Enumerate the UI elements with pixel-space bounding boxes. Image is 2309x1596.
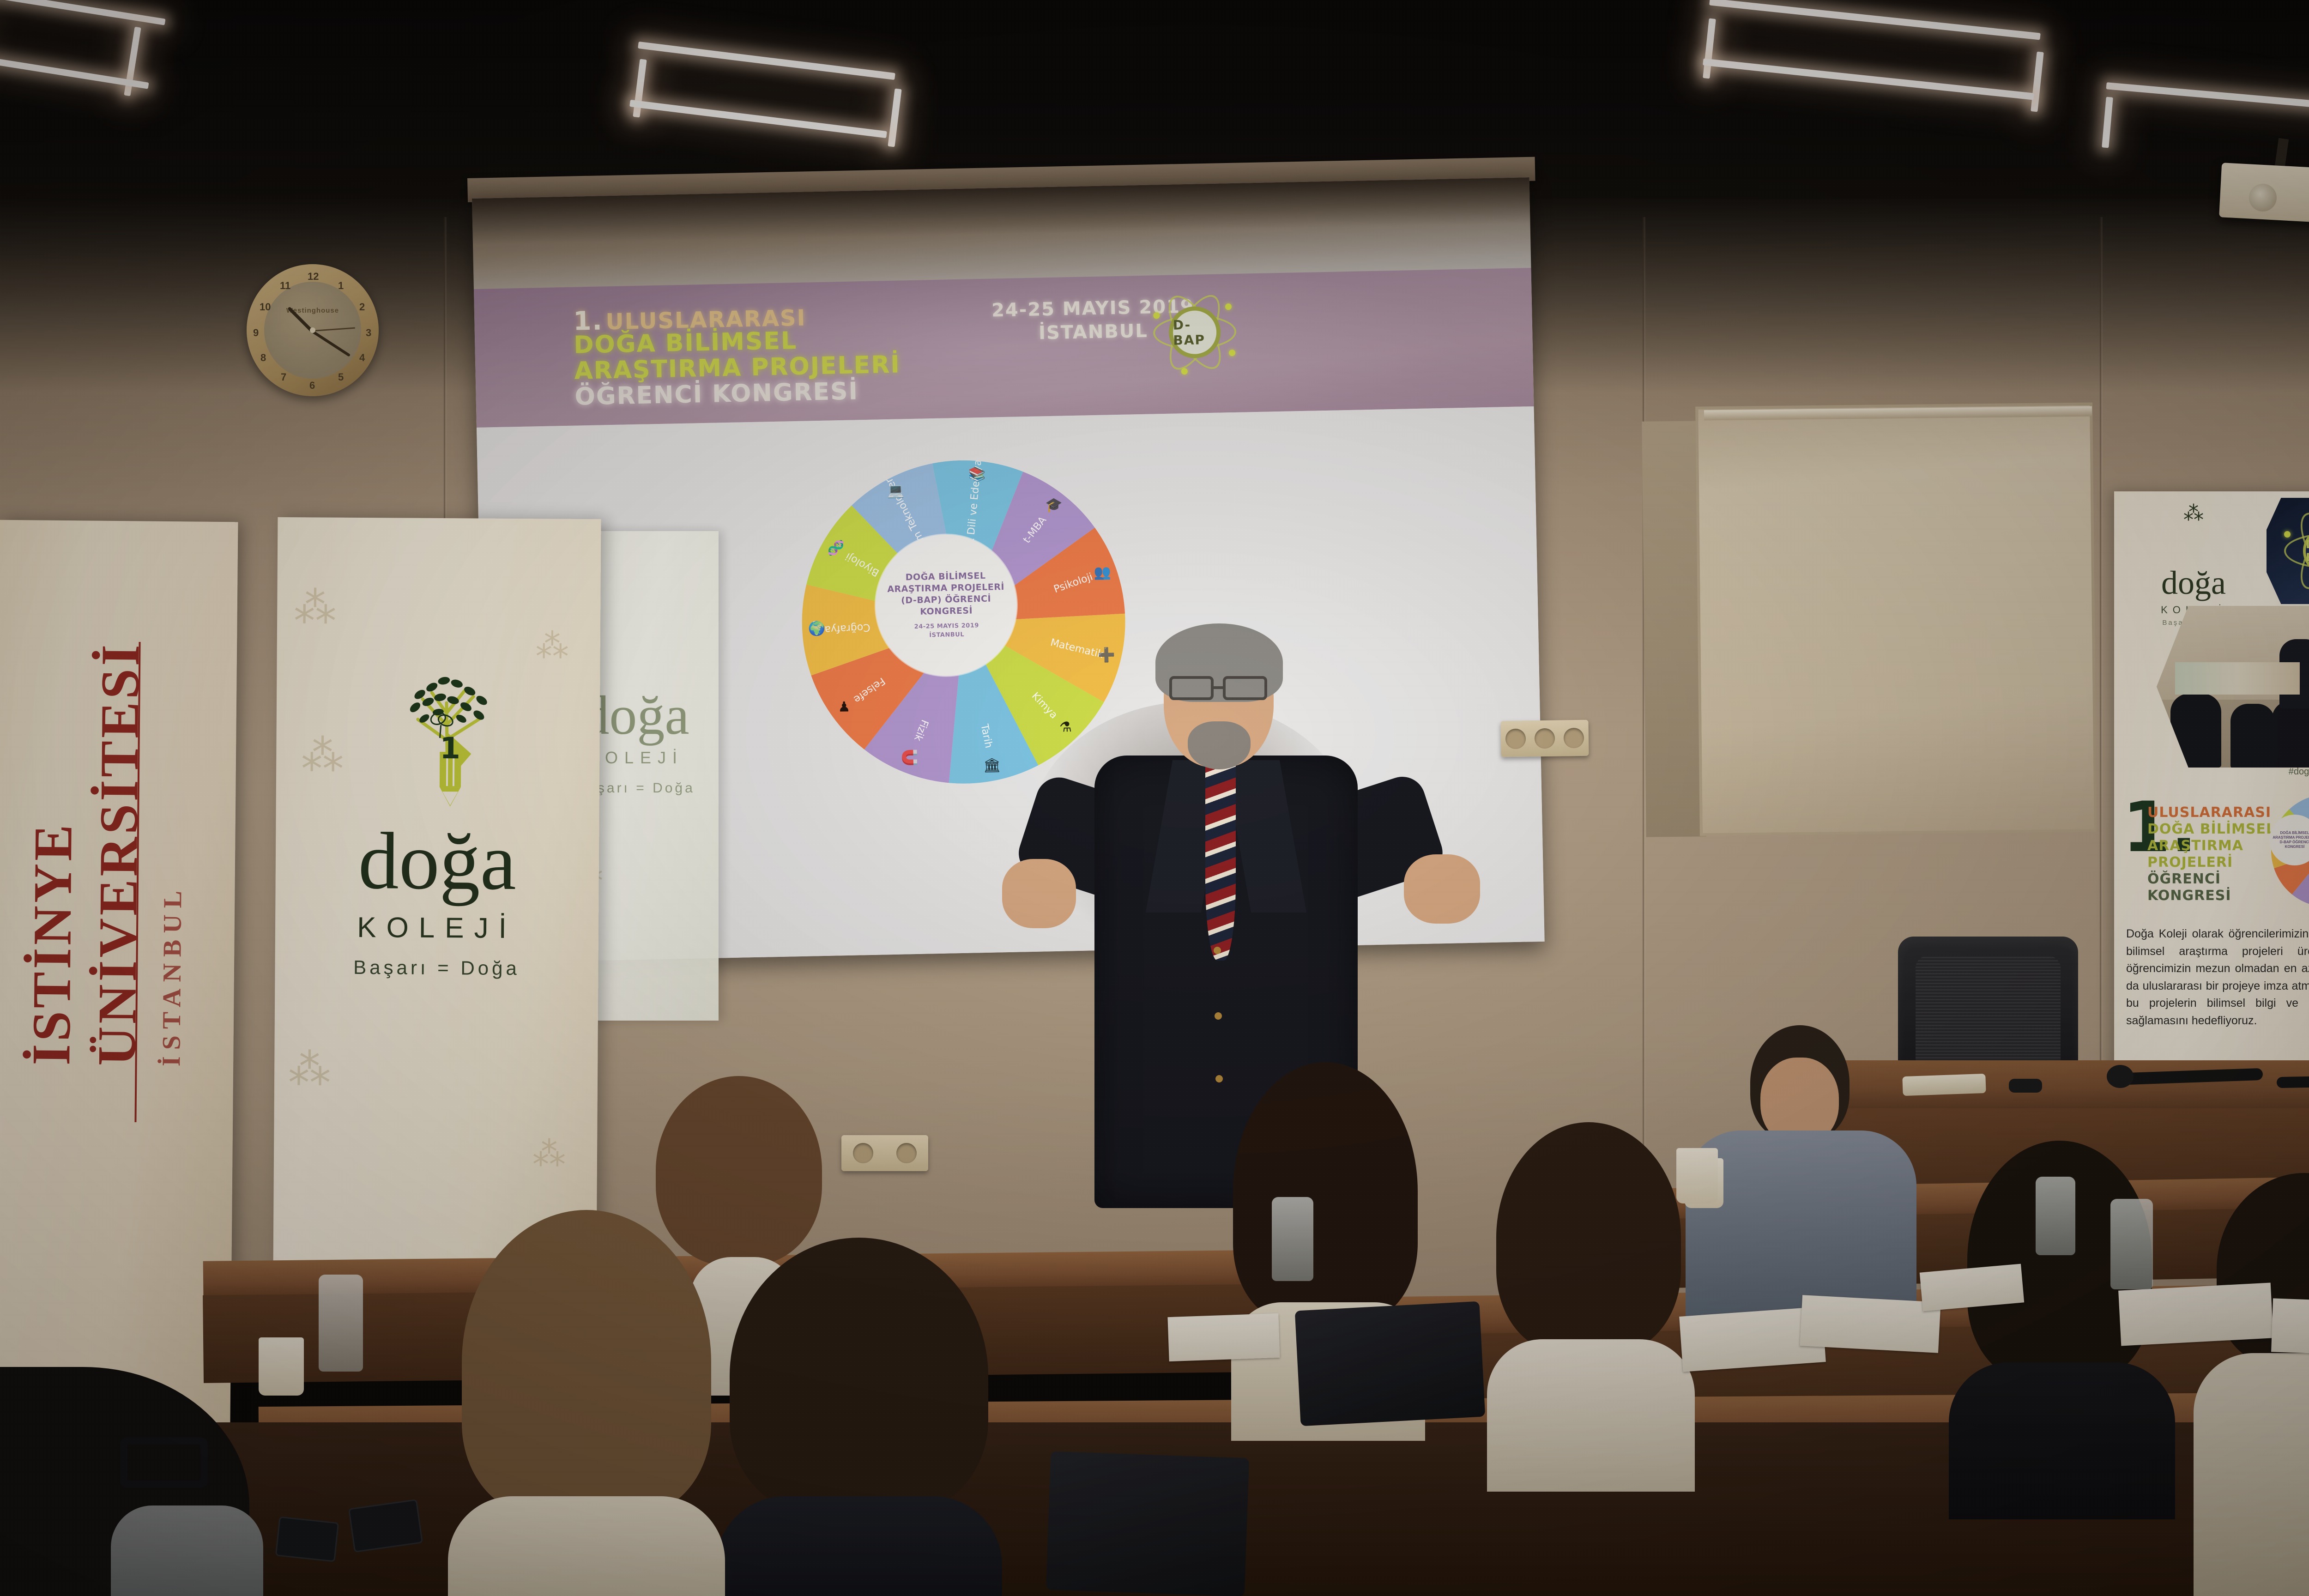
socket-outlet-icon [896, 1143, 917, 1163]
clock-numeral: 4 [359, 352, 365, 364]
ghost-tree-icon: ⁂ [532, 1137, 566, 1171]
dbap-atom-logo: D-BAP [1151, 289, 1239, 376]
rollup-title2: DOĞA BİLİMSEL [2147, 821, 2275, 837]
ceiling-led-strip [629, 100, 887, 138]
ghost-tree-icon: ⁂ [288, 1048, 331, 1091]
paper-sheet[interactable] [2271, 1298, 2309, 1356]
speaker-left-hand [1002, 859, 1076, 928]
clock-numeral: 10 [260, 301, 271, 313]
doga-slogan: Başarı = Doğa [275, 956, 598, 980]
istinye-line2: ÜNİVERSİTESİ [85, 642, 152, 1066]
paper-cup[interactable] [259, 1337, 304, 1396]
eyeglasses-bridge [1213, 686, 1226, 689]
doga-badge-number: 1 [440, 731, 460, 766]
person-torso [111, 1505, 263, 1596]
rollup-title3: ARAŞTIRMA [2147, 838, 2243, 854]
speaker-right-hand [1404, 854, 1480, 924]
mobile-phone[interactable] [275, 1516, 339, 1562]
wheel-segment-icon: 🎓 [1045, 497, 1063, 513]
hub-line3: (D-BAP) ÖĞRENCİ [901, 593, 991, 607]
ghost-tree-icon: ⁂ [294, 586, 337, 629]
clock-center-pin [310, 327, 315, 333]
electron-dot-icon [1229, 350, 1235, 356]
clock-numeral: 9 [253, 327, 259, 339]
person-torso [1949, 1362, 2175, 1519]
electron-dot-icon [1225, 303, 1232, 310]
paper-cup[interactable] [1676, 1148, 1718, 1203]
audience-member [711, 1238, 1007, 1596]
socket-outlet-icon [1564, 728, 1584, 749]
ceiling-led-strip [2102, 97, 2113, 148]
ghost-tree-icon: ⁂ [536, 629, 569, 663]
wheel-segment-icon: 🧬 [827, 539, 845, 556]
rollup-title6: KONGRESİ [2147, 888, 2231, 904]
paper-sheet[interactable] [2118, 1282, 2273, 1346]
ceiling-led-strip [1703, 18, 1716, 79]
clock-numeral: 3 [366, 327, 371, 339]
hub-line1: DOĞA BİLİMSEL [906, 570, 986, 584]
person-hair [730, 1238, 988, 1515]
eyeglasses-icon [1169, 676, 1214, 700]
person-torso [1487, 1339, 1695, 1492]
jacket-button [1214, 947, 1221, 954]
presenter-clicker[interactable] [2009, 1079, 2042, 1093]
wall-power-socket[interactable] [841, 1135, 928, 1171]
doga-wordmark: doğa [275, 822, 599, 901]
ceiling-led-strip [638, 42, 895, 80]
socket-outlet-icon [1535, 728, 1555, 749]
speaker-striped-tie [1205, 762, 1236, 961]
rollup-title1: ULUSLARARASI [2147, 804, 2271, 821]
person-torso [716, 1496, 1002, 1596]
rollup-doga-block: ⁂ doğa KOLEJİ Başarı = Doğa [2124, 502, 2263, 594]
ceiling-led-strip [2031, 52, 2044, 112]
clock-numeral: 7 [281, 371, 286, 383]
person-hair [1233, 1062, 1418, 1321]
rollup-atom-text: D-BAP [2306, 538, 2309, 564]
istinye-line1: İSTİNYE [20, 641, 86, 1065]
doga-pencil-tree-logo: 1 [392, 670, 503, 809]
wheel-segment-label: Coğrafya [824, 621, 870, 635]
clock-numeral: 8 [260, 352, 266, 364]
ceiling-led-strip [1709, 0, 2041, 40]
wheel-segment-icon: 💻 [887, 483, 904, 499]
ceiling-led-strip [633, 59, 647, 118]
rollup-doga-wordmark: doğa [2124, 564, 2263, 602]
clock-second-hand [313, 327, 355, 332]
microphone-windscreen [2107, 1065, 2134, 1088]
chair-mesh-back [1916, 956, 2061, 1071]
audience-member [1469, 1122, 1709, 1473]
water-bottle[interactable] [2110, 1199, 2153, 1289]
clock-brand: Westinghouse [264, 307, 361, 314]
wheel-segment-icon: ♟ [838, 699, 851, 715]
slide-title-line4: ÖĞRENCİ KONGRESİ [574, 377, 858, 411]
ghost-tree-icon: ⁂ [301, 734, 344, 777]
wheel-segment-icon: 🌍 [808, 620, 825, 637]
socket-outlet-icon [853, 1143, 873, 1163]
rollup-photo [2157, 606, 2309, 768]
rollup-title5: ÖĞRENCİ [2147, 871, 2221, 887]
ceiling-led-strip [1703, 58, 2034, 100]
person-hair [462, 1210, 711, 1515]
clock-numeral: 6 [309, 380, 315, 392]
hub-line4: KONGRESİ [920, 605, 973, 618]
speaker-beard [1188, 721, 1251, 769]
ceiling-led-strip [888, 89, 901, 147]
water-bottle[interactable] [1272, 1197, 1313, 1281]
hub-date: 24-25 MAYIS 2019 [914, 622, 979, 631]
clock-numeral: 2 [359, 301, 365, 313]
rollup-wheel-hub-text: DOĞA BİLİMSEL ARAŞTIRMA PROJELERİ D-BAP … [2269, 831, 2309, 849]
water-glass[interactable] [319, 1275, 363, 1372]
clock-minute-hand [312, 330, 351, 357]
audience-member [0, 1367, 296, 1596]
wall-clock: Westinghouse 12 1 2 3 4 5 6 7 8 9 10 11 [247, 264, 379, 396]
audience-member [443, 1210, 730, 1596]
hub-city: İSTANBUL [929, 631, 964, 640]
audience-member [2189, 1173, 2309, 1596]
jacket-button [1215, 1012, 1222, 1020]
clock-numeral: 1 [338, 280, 344, 292]
wheel-segment-icon: 🧲 [901, 750, 918, 766]
paper-sheet[interactable] [1800, 1295, 1940, 1353]
clock-numeral: 12 [308, 271, 319, 283]
rollup-hashtag: #dogabapkongresi [2267, 767, 2309, 777]
rollup-title4: PROJELERİ [2147, 854, 2233, 871]
handbag[interactable] [1295, 1301, 1486, 1427]
handbag[interactable] [1046, 1451, 1249, 1596]
istinye-rot-group: İSTİNYE ÜNİVERSİTESİ İSTANBUL [20, 641, 190, 1066]
rollup-body-text: Doğa Koleji olarak öğrencilerimizin lise… [2126, 925, 2309, 1029]
person-torso [448, 1496, 725, 1596]
eyeglasses-icon [1223, 676, 1267, 700]
whiteboard [1695, 403, 2097, 836]
paper-sheet[interactable] [1167, 1313, 1280, 1361]
lecture-hall-photo: Westinghouse 12 1 2 3 4 5 6 7 8 9 10 11 … [0, 0, 2309, 1596]
water-bottle[interactable] [2036, 1177, 2075, 1255]
ceiling-led-strip [2106, 82, 2309, 115]
electron-dot-icon [1181, 368, 1188, 375]
wheel-segment-icon: 🏛 [983, 758, 1001, 774]
wheel-segment-icon: 👥 [1094, 565, 1111, 580]
wheel-segment-icon: 📚 [968, 466, 985, 483]
wall-power-socket[interactable] [1500, 720, 1589, 757]
clock-numeral: 5 [338, 371, 344, 383]
istinye-sub: İSTANBUL [157, 642, 190, 1067]
doga-sub-koleji: KOLEJİ [275, 911, 598, 945]
electron-dot-icon [1153, 312, 1160, 319]
eyeglasses-icon [120, 1437, 208, 1488]
socket-outlet-icon [1505, 729, 1526, 750]
dbap-logo-text: D-BAP [1173, 317, 1216, 348]
person-torso [2194, 1353, 2309, 1596]
microphone[interactable] [2277, 1075, 2309, 1088]
ceiling-led-strip [0, 0, 166, 25]
rollup-dbap-atom-logo: D-BAP [2267, 498, 2309, 604]
person-hair [1496, 1122, 1681, 1353]
ceiling-led-strip [0, 52, 149, 89]
clock-numeral: 11 [280, 280, 290, 292]
